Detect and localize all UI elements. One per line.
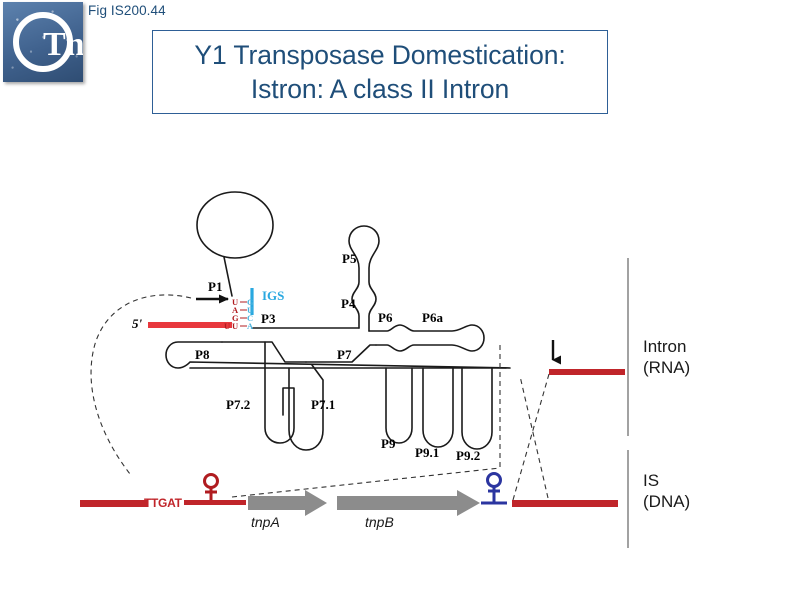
dna-right-hairpin <box>481 474 507 504</box>
ctn-logo: Tn <box>3 2 83 82</box>
slide-canvas: Tn Fig IS200.44 Y1 Transposase Domestica… <box>0 0 800 600</box>
five-prime-bar <box>148 322 232 328</box>
p4-p5-stack <box>349 226 379 331</box>
igs-label: IGS <box>262 288 284 304</box>
is-label-line1: IS <box>643 470 690 491</box>
intron-label-line1: Intron <box>643 336 690 357</box>
figure-caption: Fig IS200.44 <box>88 3 166 18</box>
tnpa-arrow <box>248 490 327 516</box>
stem-label-p8: P8 <box>195 347 209 363</box>
dashed-intron-left <box>513 374 549 500</box>
stem-label-p9-2: P9.2 <box>456 448 480 464</box>
title-box: Y1 Transposase Domestication: Istron: A … <box>152 30 608 114</box>
dna-left-flank <box>80 500 148 507</box>
dna-right-flank <box>512 500 618 507</box>
rna-secondary-structure <box>166 192 510 450</box>
stem-label-p6a: P6a <box>422 310 443 326</box>
is-label-line2: (DNA) <box>643 491 690 512</box>
stem-label-p5: P5 <box>342 251 356 267</box>
five-prime-label: 5' <box>132 316 142 332</box>
dashed-connector-dna-to-rna <box>232 468 500 497</box>
base-pair-right-4: A <box>247 321 253 331</box>
p1-left-leg <box>224 257 232 296</box>
is-dna-label: IS (DNA) <box>643 470 690 512</box>
p9-hairpin <box>386 368 412 443</box>
stem-label-p9: P9 <box>381 436 395 452</box>
stem-label-p7-2: P7.2 <box>226 397 250 413</box>
title-line-1: Y1 Transposase Domestication: <box>194 38 565 72</box>
dashed-intron-right <box>520 376 548 498</box>
p7-2-hairpin <box>265 342 294 443</box>
p9-2-hairpin <box>462 368 492 449</box>
stem-label-p6: P6 <box>378 310 392 326</box>
base-pair-bonds <box>240 302 247 326</box>
base-extra-left: U <box>224 321 230 331</box>
dna-left-hairpin <box>205 475 218 501</box>
intron-label-line2: (RNA) <box>643 357 690 378</box>
target-site-label: TTGAT <box>144 496 182 510</box>
stem-label-p7: P7 <box>337 347 351 363</box>
ctn-logo-glyph: Tn <box>3 2 83 82</box>
stem-label-p3: P3 <box>261 311 275 327</box>
p9-1-hairpin <box>423 368 453 447</box>
tnpa-label: tnpA <box>251 514 280 530</box>
tnpb-label: tnpB <box>365 514 394 530</box>
p6-p6a-upper <box>369 325 484 351</box>
stem-label-p1: P1 <box>208 279 222 295</box>
p1-terminal-loop <box>197 192 273 258</box>
stem-label-p4: P4 <box>341 296 355 312</box>
stem-label-p7-1: P7.1 <box>311 397 335 413</box>
base-pair-left-4: U <box>232 321 238 331</box>
dna-left-red-segment <box>184 500 246 505</box>
tnpb-arrow <box>337 490 480 516</box>
stem-label-p9-1: P9.1 <box>415 445 439 461</box>
svg-text:Tn: Tn <box>43 26 83 63</box>
title-line-2: Istron: A class II Intron <box>251 72 509 106</box>
intron-rna-label: Intron (RNA) <box>643 336 690 378</box>
intron-rna-bar <box>549 369 625 375</box>
p8-hairpin <box>222 342 306 362</box>
